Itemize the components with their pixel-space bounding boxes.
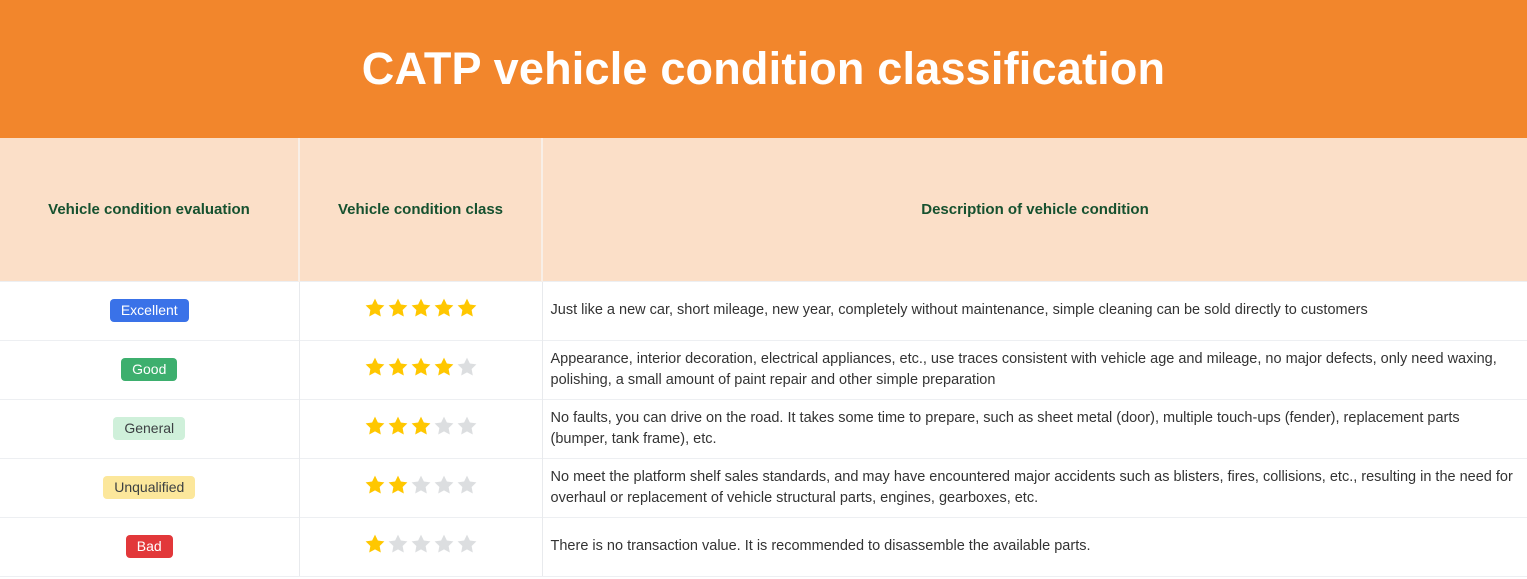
star-filled-icon bbox=[410, 356, 432, 378]
cell-evaluation: General bbox=[0, 399, 299, 458]
status-badge: Unqualified bbox=[103, 476, 195, 500]
cell-condition-class bbox=[299, 458, 542, 517]
cell-description: Appearance, interior decoration, electri… bbox=[542, 340, 1527, 399]
star-filled-icon bbox=[364, 297, 386, 319]
column-header-class: Vehicle condition class bbox=[299, 138, 542, 281]
star-rating bbox=[364, 533, 478, 555]
star-empty-icon bbox=[410, 474, 432, 496]
table-row: GoodAppearance, interior decoration, ele… bbox=[0, 340, 1527, 399]
status-badge: Excellent bbox=[110, 299, 189, 323]
star-empty-icon bbox=[433, 474, 455, 496]
status-badge: General bbox=[113, 417, 185, 441]
cell-condition-class bbox=[299, 340, 542, 399]
star-empty-icon bbox=[456, 533, 478, 555]
table-row: GeneralNo faults, you can drive on the r… bbox=[0, 399, 1527, 458]
vehicle-condition-table: Vehicle condition evaluation Vehicle con… bbox=[0, 138, 1527, 577]
vehicle-condition-classification-page: CATP vehicle condition classification Ve… bbox=[0, 0, 1527, 579]
table-header: Vehicle condition evaluation Vehicle con… bbox=[0, 138, 1527, 281]
column-header-description: Description of vehicle condition bbox=[542, 138, 1527, 281]
star-filled-icon bbox=[364, 474, 386, 496]
star-filled-icon bbox=[410, 415, 432, 437]
table-header-row: Vehicle condition evaluation Vehicle con… bbox=[0, 138, 1527, 281]
star-rating bbox=[364, 356, 478, 378]
cell-description: No meet the platform shelf sales standar… bbox=[542, 458, 1527, 517]
cell-evaluation: Unqualified bbox=[0, 458, 299, 517]
table-row: UnqualifiedNo meet the platform shelf sa… bbox=[0, 458, 1527, 517]
star-empty-icon bbox=[456, 474, 478, 496]
star-empty-icon bbox=[456, 415, 478, 437]
cell-description: There is no transaction value. It is rec… bbox=[542, 517, 1527, 576]
star-empty-icon bbox=[433, 533, 455, 555]
cell-description: No faults, you can drive on the road. It… bbox=[542, 399, 1527, 458]
star-filled-icon bbox=[433, 356, 455, 378]
status-badge: Good bbox=[121, 358, 177, 382]
cell-evaluation: Good bbox=[0, 340, 299, 399]
column-header-evaluation: Vehicle condition evaluation bbox=[0, 138, 299, 281]
cell-description: Just like a new car, short mileage, new … bbox=[542, 281, 1527, 340]
cell-condition-class bbox=[299, 399, 542, 458]
star-empty-icon bbox=[433, 415, 455, 437]
star-filled-icon bbox=[410, 297, 432, 319]
page-title: CATP vehicle condition classification bbox=[362, 44, 1165, 94]
star-filled-icon bbox=[364, 356, 386, 378]
table-body: ExcellentJust like a new car, short mile… bbox=[0, 281, 1527, 576]
cell-evaluation: Bad bbox=[0, 517, 299, 576]
star-filled-icon bbox=[364, 533, 386, 555]
star-filled-icon bbox=[364, 415, 386, 437]
star-filled-icon bbox=[387, 474, 409, 496]
star-empty-icon bbox=[456, 356, 478, 378]
status-badge: Bad bbox=[126, 535, 173, 559]
star-rating bbox=[364, 297, 478, 319]
cell-evaluation: Excellent bbox=[0, 281, 299, 340]
page-title-band: CATP vehicle condition classification bbox=[0, 0, 1527, 138]
cell-condition-class bbox=[299, 517, 542, 576]
star-filled-icon bbox=[433, 297, 455, 319]
star-filled-icon bbox=[387, 415, 409, 437]
cell-condition-class bbox=[299, 281, 542, 340]
star-empty-icon bbox=[410, 533, 432, 555]
star-filled-icon bbox=[387, 356, 409, 378]
table-row: ExcellentJust like a new car, short mile… bbox=[0, 281, 1527, 340]
star-rating bbox=[364, 415, 478, 437]
star-empty-icon bbox=[387, 533, 409, 555]
table-row: BadThere is no transaction value. It is … bbox=[0, 517, 1527, 576]
star-filled-icon bbox=[387, 297, 409, 319]
star-filled-icon bbox=[456, 297, 478, 319]
star-rating bbox=[364, 474, 478, 496]
